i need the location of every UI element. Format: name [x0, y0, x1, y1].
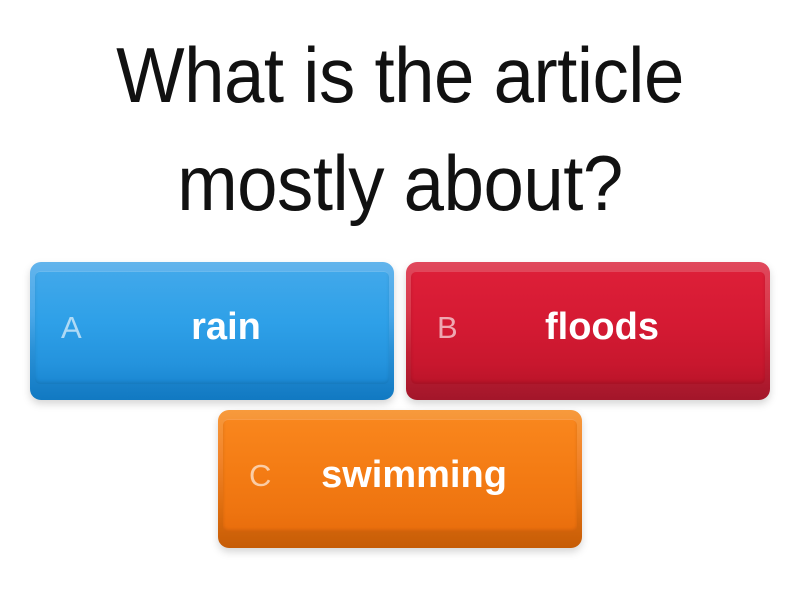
answer-row-bottom: C swimming [0, 410, 800, 548]
answer-option-b-letter: B [437, 312, 491, 343]
answer-option-a-face: A rain [35, 271, 389, 384]
answer-option-c[interactable]: C swimming [218, 410, 582, 548]
answer-option-b-label: floods [491, 307, 747, 349]
answer-option-c-label: swimming [303, 455, 559, 497]
answer-row-top: A rain B floods [0, 262, 800, 400]
answer-option-c-letter: C [249, 460, 303, 491]
answer-option-a-letter: A [61, 312, 115, 343]
answer-options-area: A rain B floods C swimming [0, 262, 800, 562]
answer-option-a[interactable]: A rain [30, 262, 394, 400]
page-title: What is the article mostly about? [28, 22, 772, 237]
quiz-stage: What is the article mostly about? A rain… [0, 0, 800, 600]
answer-option-a-label: rain [115, 307, 371, 349]
answer-option-b-face: B floods [411, 271, 765, 384]
answer-option-b[interactable]: B floods [406, 262, 770, 400]
question-block: What is the article mostly about? [0, 22, 800, 237]
answer-option-c-face: C swimming [223, 419, 577, 532]
